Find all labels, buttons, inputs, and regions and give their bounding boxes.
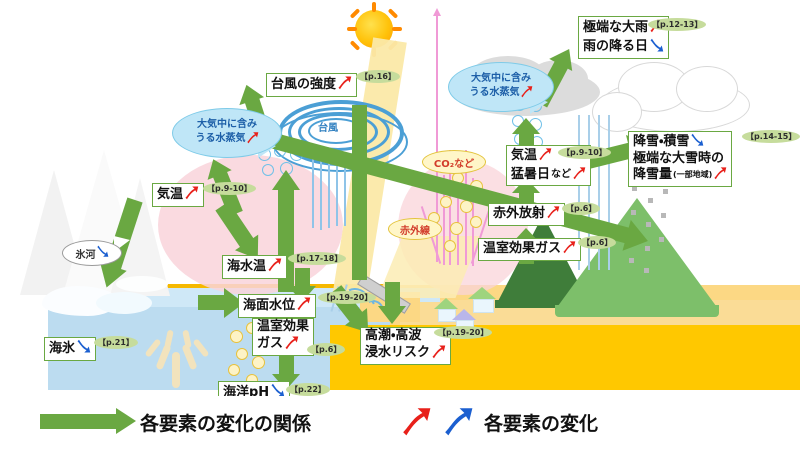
page-badge-sea-ice: 【p.21】: [94, 336, 138, 349]
climate-relationship-diagram: 台風: [0, 0, 800, 450]
trend-up-red-icon: [431, 344, 446, 364]
label-greenhouse-gas-ocean[interactable]: 温室効果 ガス: [252, 318, 314, 356]
legend-green-arrow-shaft: [40, 414, 118, 429]
legend-change-label: 各要素の変化: [484, 409, 598, 436]
label-sea-water-temperature[interactable]: 海水温: [222, 255, 287, 279]
label-sea-level[interactable]: 海面水位: [238, 294, 316, 318]
page-badge-ocean-ph: 【p.22】: [286, 383, 330, 396]
label-sea-water-temperature-text: 海水温: [227, 260, 266, 275]
label-extreme-rain-line1: 極端な大雨: [583, 21, 648, 36]
page-badge-storm-surge: 【p.19-20】: [434, 326, 492, 339]
bubble-glacier-text: 氷河: [76, 246, 96, 261]
label-extreme-rain-line2: 雨の降る日: [583, 40, 648, 55]
trend-up-red-icon: [562, 240, 576, 259]
page-badge-infrared-radiation: 【p.6】: [562, 202, 600, 215]
typhoon-label: 台風: [318, 119, 338, 134]
trend-up-red-icon: [337, 75, 352, 95]
label-storm-surge-line2: 浸水リスク: [365, 346, 430, 361]
bubble-infrared-ray-text: 赤外線: [400, 222, 430, 237]
label-snowfall-line3-suffix: (一部地域): [673, 171, 712, 180]
label-infrared-radiation-text: 赤外放射: [493, 207, 545, 222]
legend-green-arrow-head: [116, 408, 136, 434]
trend-down-blue-icon: [649, 38, 664, 58]
label-greenhouse-gas-land[interactable]: 温室効果ガス: [478, 238, 581, 261]
label-air-temperature-right-line2: 猛暑日: [511, 168, 550, 183]
label-typhoon-strength[interactable]: 台風の強度: [266, 73, 357, 97]
label-sea-ice-text: 海氷: [49, 342, 75, 357]
label-greenhouse-gas-land-text: 温室効果ガス: [483, 242, 561, 257]
bubble-infrared-ray[interactable]: 赤外線: [388, 218, 442, 240]
page-badge-sea-water-temperature: 【p.17-18】: [288, 252, 346, 265]
trend-up-red-icon: [184, 185, 199, 205]
trend-up-red-icon: [520, 85, 533, 102]
bubble-vapor-left-line2: うる水蒸気: [196, 133, 246, 145]
trend-up-red-icon: [296, 296, 311, 316]
bubble-vapor-right-line2: うる水蒸気: [470, 87, 520, 99]
page-badge-greenhouse-gas-land: 【p.6】: [578, 236, 616, 249]
page-badge-extreme-rain: 【p.12-13】: [648, 18, 706, 31]
label-greenhouse-gas-ocean-line2: ガス: [257, 337, 283, 352]
label-snowfall-line2: 極端な大雪時の: [633, 152, 727, 167]
label-snowfall-line1: 降雪・積雪: [633, 135, 689, 150]
green-arrow-typhoon-to-surge: [378, 282, 406, 326]
page-badge-air-temperature-right: 【p.9-10】: [558, 146, 611, 159]
page-badge-typhoon-strength: 【p.16】: [356, 70, 400, 83]
label-infrared-radiation[interactable]: 赤外放射: [488, 203, 565, 226]
bubble-glacier[interactable]: 氷河: [62, 240, 122, 266]
legend: 各要素の変化の関係 各要素の変化: [0, 396, 800, 450]
label-air-temperature-left-text: 気温: [157, 188, 183, 203]
page-badge-greenhouse-gas-ocean: 【p.6】: [307, 343, 345, 356]
trend-up-red-icon: [713, 166, 727, 185]
label-snowfall-line3: 降雪量: [633, 168, 672, 183]
trend-down-blue-icon: [76, 339, 91, 359]
page-badge-air-temperature-left: 【p.9-10】: [203, 182, 256, 195]
bubble-co2-text: CO₂など: [434, 155, 474, 170]
trend-up-red-icon: [246, 131, 259, 148]
label-snowfall[interactable]: 降雪・積雪 極端な大雪時の 降雪量 (一部地域): [628, 131, 732, 187]
bubble-atmospheric-vapor-left[interactable]: 大気中に含み うる水蒸気: [172, 108, 282, 158]
trend-up-red-icon: [284, 335, 299, 355]
legend-relation-label: 各要素の変化の関係: [140, 409, 311, 436]
label-air-temperature-left[interactable]: 気温: [152, 183, 204, 207]
trend-up-red-icon: [572, 166, 586, 185]
bubble-vapor-left-line1: 大気中に含み: [196, 119, 259, 131]
trend-up-red-icon: [546, 205, 560, 224]
bubble-atmospheric-vapor-right[interactable]: 大気中に含み うる水蒸気: [448, 62, 554, 112]
legend-trend-up-red-icon: [400, 405, 432, 441]
bubble-co2[interactable]: CO₂など: [422, 150, 486, 174]
trend-up-red-icon: [538, 147, 552, 166]
mountain-light-base: [555, 305, 719, 317]
label-air-temperature-right-suffix: など: [551, 169, 571, 180]
page-badge-sea-level: 【p.19-20】: [318, 291, 376, 304]
trend-down-blue-icon: [96, 245, 109, 261]
trend-down-blue-icon: [690, 133, 704, 152]
trend-up-red-icon: [267, 257, 282, 277]
label-greenhouse-gas-ocean-line1: 温室効果: [257, 320, 309, 335]
page-badge-snowfall: 【p.14-15】: [742, 130, 800, 143]
label-sea-level-text: 海面水位: [243, 299, 295, 314]
label-air-temperature-right-line1: 気温: [511, 149, 537, 164]
legend-trend-up-blue-icon: [442, 405, 474, 441]
label-typhoon-strength-text: 台風の強度: [271, 78, 336, 93]
bubble-vapor-right-line1: 大気中に含み: [470, 73, 533, 85]
label-sea-ice[interactable]: 海氷: [44, 337, 96, 361]
